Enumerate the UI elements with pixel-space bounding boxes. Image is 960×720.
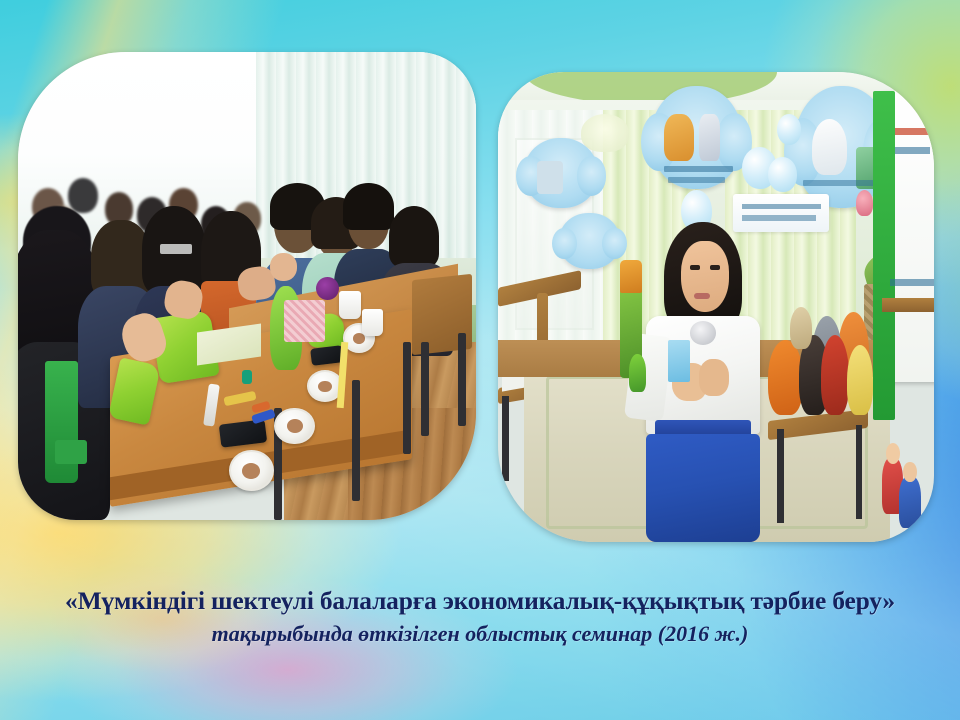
- chandelier: [581, 114, 629, 152]
- chair-leg: [421, 342, 429, 436]
- tape-roll-hole: [242, 463, 260, 479]
- patterned-cloth: [284, 300, 325, 342]
- poster-text-line: [664, 166, 734, 172]
- presenter-mouth: [694, 293, 710, 299]
- balloon: [768, 157, 797, 193]
- desk-leg: [352, 380, 360, 502]
- poster-text-line: [742, 215, 816, 221]
- hand: [270, 253, 297, 281]
- chair-leg: [458, 333, 466, 427]
- info-board-green-strip: [873, 91, 895, 420]
- photo-left-scene: [18, 52, 476, 520]
- poster-illustration: [812, 119, 847, 175]
- plastic-cup: [362, 309, 383, 335]
- presenter-photo: [498, 72, 934, 542]
- plastic-cup: [339, 291, 362, 319]
- info-board-text-line: [890, 279, 934, 287]
- green-toy: [629, 354, 646, 392]
- presenter-eye: [710, 265, 720, 271]
- yarn-ball: [316, 277, 339, 300]
- photo-right-scene: [498, 72, 934, 542]
- poster-illustration: [664, 114, 695, 161]
- poster-illustration: [699, 114, 721, 161]
- hand-puppet-yellow: [847, 345, 873, 416]
- plant-flower: [856, 190, 873, 216]
- table-leg: [856, 425, 863, 519]
- crowd-head: [68, 178, 97, 213]
- tape-roll: [229, 450, 274, 491]
- participant-hair: [389, 206, 439, 267]
- participant-hair: [343, 183, 393, 230]
- figurine: [899, 476, 921, 528]
- decor-column-top: [620, 260, 642, 293]
- poster-text-line: [668, 177, 725, 183]
- poster-banner: [733, 194, 829, 232]
- poster-text-line: [742, 204, 820, 210]
- presenter-skirt: [646, 434, 759, 542]
- hand-puppet-small: [790, 307, 812, 349]
- presenter-blue-card: [668, 340, 690, 382]
- presenter-eye: [690, 265, 700, 271]
- table-leg: [502, 396, 509, 481]
- eyeglasses: [160, 244, 192, 254]
- info-board-shelf: [882, 298, 934, 312]
- hand-puppet-red: [821, 335, 849, 415]
- figurine-head: [886, 443, 900, 464]
- caption-line-2: тақырыбында өткізілген облыстық семинар …: [0, 621, 960, 647]
- presenter-necklace: [690, 321, 716, 345]
- caption-line-1: «Мүмкіндігі шектеулі балаларға экономика…: [0, 586, 960, 616]
- presentation-slide: «Мүмкіндігі шектеулі балаларға экономика…: [0, 0, 960, 720]
- presenter-face: [681, 241, 729, 312]
- balloon: [777, 114, 801, 145]
- presenter-hand: [699, 359, 730, 397]
- slide-caption: «Мүмкіндігі шектеулі балаларға экономика…: [0, 586, 960, 646]
- poster-text-line: [803, 180, 877, 186]
- info-board-text-line: [895, 128, 934, 135]
- poster-illustration: [537, 161, 563, 194]
- info-board-text-line: [895, 147, 930, 154]
- figurine-head: [903, 462, 916, 482]
- tape-roll-hole: [318, 381, 332, 393]
- hand-puppet-orange: [768, 340, 803, 415]
- table-leg: [777, 429, 784, 523]
- cloud-poster: [559, 213, 620, 269]
- tape-roll-hole: [353, 333, 365, 344]
- participant-green-cuff: [55, 440, 87, 463]
- participant-green-scarf: [45, 361, 77, 483]
- marker-cap: [242, 370, 251, 384]
- seminar-participants-photo: [18, 52, 476, 520]
- tape-roll-hole: [287, 419, 303, 433]
- desk-leg: [403, 342, 411, 454]
